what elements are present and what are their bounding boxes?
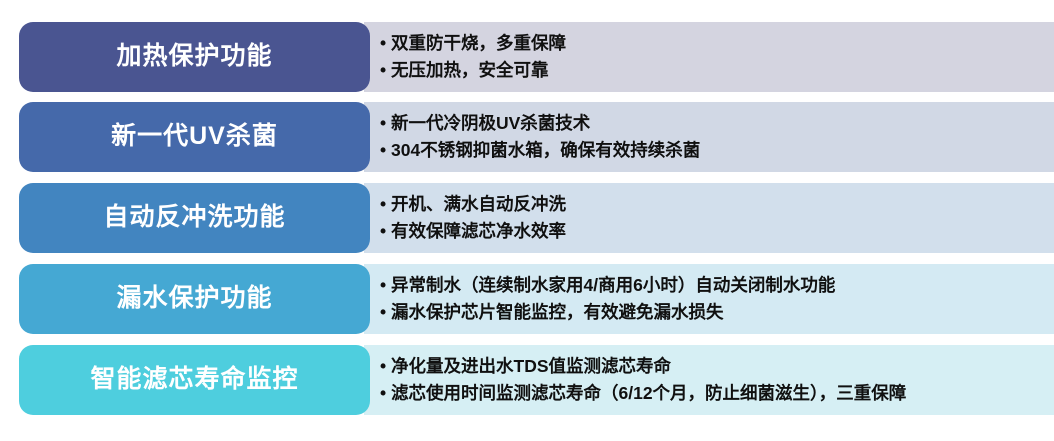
feature-board: 加热保护功能•双重防干烧，多重保障•无压加热，安全可靠新一代UV杀菌•新一代冷阴… xyxy=(0,0,1054,441)
feature-label-text: 加热保护功能 xyxy=(116,43,272,71)
feature-content-panel: •异常制水（连续制水家用4/商用6小时）自动关闭制水功能•漏水保护芯片智能监控，… xyxy=(364,264,1054,334)
feature-bullet-text: 异常制水（连续制水家用4/商用6小时）自动关闭制水功能 xyxy=(391,272,835,299)
feature-bullet-item: •有效保障滤芯净水效率 xyxy=(380,218,1044,245)
feature-content-panel: •开机、满水自动反冲洗•有效保障滤芯净水效率 xyxy=(364,183,1054,253)
feature-row: 加热保护功能•双重防干烧，多重保障•无压加热，安全可靠 xyxy=(0,22,1054,92)
bullet-dot-icon: • xyxy=(380,218,391,245)
feature-bullet-text: 漏水保护芯片智能监控，有效避免漏水损失 xyxy=(391,299,724,326)
feature-bullet-item: •304不锈钢抑菌水箱，确保有效持续杀菌 xyxy=(380,137,1044,164)
feature-label-pill[interactable]: 漏水保护功能 xyxy=(19,264,370,334)
feature-label-pill[interactable]: 智能滤芯寿命监控 xyxy=(19,345,370,415)
feature-bullet-text: 双重防干烧，多重保障 xyxy=(391,30,566,57)
feature-bullet-text: 新一代冷阴极UV杀菌技术 xyxy=(391,110,590,137)
feature-label-text: 智能滤芯寿命监控 xyxy=(90,366,298,394)
feature-bullet-item: •滤芯使用时间监测滤芯寿命（6/12个月，防止细菌滋生），三重保障 xyxy=(380,380,1044,407)
bullet-dot-icon: • xyxy=(380,191,391,218)
feature-label-pill[interactable]: 新一代UV杀菌 xyxy=(19,102,370,172)
feature-bullet-text: 开机、满水自动反冲洗 xyxy=(391,191,566,218)
bullet-dot-icon: • xyxy=(380,137,391,164)
feature-bullet-text: 滤芯使用时间监测滤芯寿命（6/12个月，防止细菌滋生），三重保障 xyxy=(391,380,906,407)
feature-bullet-text: 有效保障滤芯净水效率 xyxy=(391,218,566,245)
feature-bullet-item: •开机、满水自动反冲洗 xyxy=(380,191,1044,218)
feature-content-panel: •新一代冷阴极UV杀菌技术•304不锈钢抑菌水箱，确保有效持续杀菌 xyxy=(364,102,1054,172)
bullet-dot-icon: • xyxy=(380,272,391,299)
feature-bullet-item: •异常制水（连续制水家用4/商用6小时）自动关闭制水功能 xyxy=(380,272,1044,299)
feature-bullet-text: 304不锈钢抑菌水箱，确保有效持续杀菌 xyxy=(391,137,700,164)
feature-bullet-item: •新一代冷阴极UV杀菌技术 xyxy=(380,110,1044,137)
feature-bullet-text: 净化量及进出水TDS值监测滤芯寿命 xyxy=(391,353,671,380)
feature-bullet-item: •无压加热，安全可靠 xyxy=(380,57,1044,84)
feature-row: 自动反冲洗功能•开机、满水自动反冲洗•有效保障滤芯净水效率 xyxy=(0,183,1054,253)
feature-row: 新一代UV杀菌•新一代冷阴极UV杀菌技术•304不锈钢抑菌水箱，确保有效持续杀菌 xyxy=(0,102,1054,172)
bullet-dot-icon: • xyxy=(380,57,391,84)
feature-label-pill[interactable]: 自动反冲洗功能 xyxy=(19,183,370,253)
bullet-dot-icon: • xyxy=(380,30,391,57)
feature-bullet-item: •净化量及进出水TDS值监测滤芯寿命 xyxy=(380,353,1044,380)
bullet-dot-icon: • xyxy=(380,299,391,326)
feature-content-panel: •双重防干烧，多重保障•无压加热，安全可靠 xyxy=(364,22,1054,92)
feature-label-text: 新一代UV杀菌 xyxy=(111,123,278,151)
bullet-dot-icon: • xyxy=(380,110,391,137)
bullet-dot-icon: • xyxy=(380,353,391,380)
feature-row: 漏水保护功能•异常制水（连续制水家用4/商用6小时）自动关闭制水功能•漏水保护芯… xyxy=(0,264,1054,334)
feature-label-text: 自动反冲洗功能 xyxy=(103,204,285,232)
feature-bullet-text: 无压加热，安全可靠 xyxy=(391,57,549,84)
feature-bullet-item: •漏水保护芯片智能监控，有效避免漏水损失 xyxy=(380,299,1044,326)
feature-content-panel: •净化量及进出水TDS值监测滤芯寿命•滤芯使用时间监测滤芯寿命（6/12个月，防… xyxy=(364,345,1054,415)
feature-label-text: 漏水保护功能 xyxy=(116,285,272,313)
feature-label-pill[interactable]: 加热保护功能 xyxy=(19,22,370,92)
bullet-dot-icon: • xyxy=(380,380,391,407)
feature-bullet-item: •双重防干烧，多重保障 xyxy=(380,30,1044,57)
feature-row: 智能滤芯寿命监控•净化量及进出水TDS值监测滤芯寿命•滤芯使用时间监测滤芯寿命（… xyxy=(0,345,1054,415)
